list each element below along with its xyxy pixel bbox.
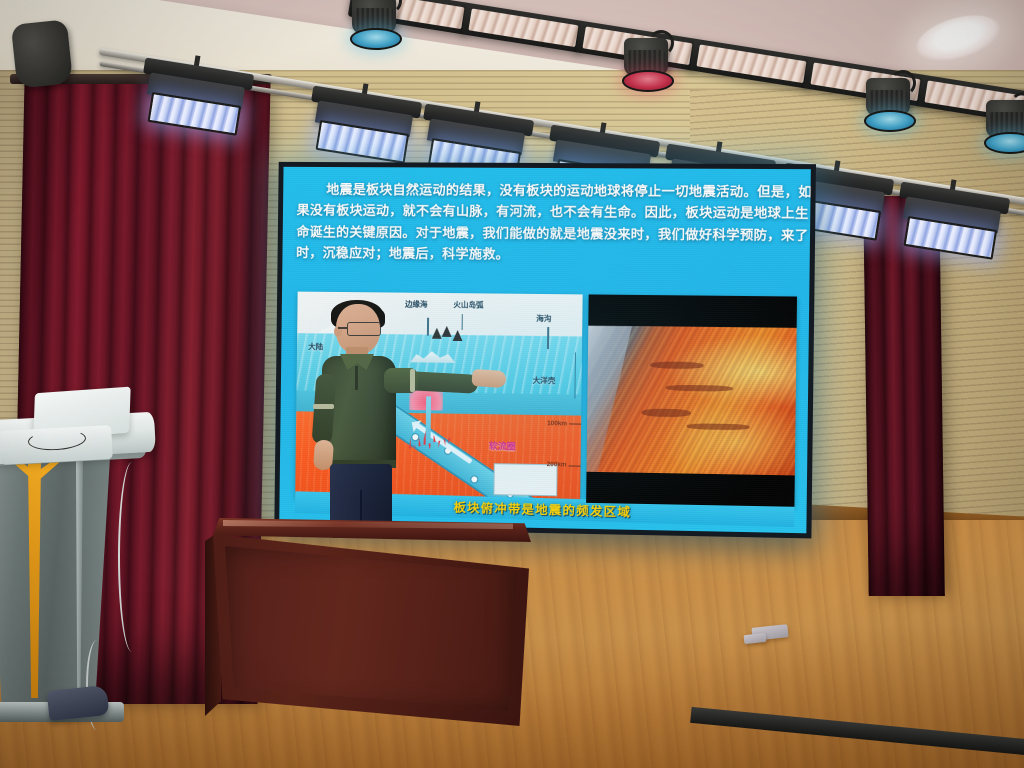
slide-line: 时，沉稳应对；地震后，科学施救。 — [296, 242, 800, 268]
stage-curtain-right — [863, 196, 945, 596]
par-can-light-blue — [346, 0, 402, 48]
curtain-rod-bracket — [11, 19, 73, 89]
eyeglasses-icon — [347, 322, 381, 336]
par-can-light-blue-2 — [860, 78, 916, 130]
presenter-person — [300, 300, 500, 535]
speaker-lectern[interactable] — [0, 390, 170, 730]
slide-body-text: 地震是板块自然运动的结果，没有板块的运动地球将停止一切地震活动。但是，如 果没有… — [296, 179, 800, 268]
sleeve-trim-right — [410, 369, 415, 392]
par-can-light-red — [618, 38, 674, 90]
depth-tick-200: 200km — [547, 462, 567, 469]
label-trench: 海沟 — [536, 313, 551, 324]
label-oceanic-crust: 大洋壳 — [533, 375, 556, 386]
slide-line: 地震是板块自然运动的结果，没有板块的运动地球将停止一切地震活动。但是，如 — [297, 179, 801, 203]
presenter-pointing-hand — [471, 369, 506, 388]
depth-tick-100: 100km — [547, 420, 567, 427]
floor-pedal[interactable] — [47, 685, 110, 721]
magma-flow-photo — [586, 294, 797, 506]
desk-modesty-panel — [225, 546, 517, 714]
shirt-placket — [355, 366, 358, 390]
wooden-desk[interactable] — [205, 518, 535, 733]
hanging-cable — [118, 462, 146, 652]
par-can-light-blue-3 — [980, 100, 1024, 152]
lecture-hall-scene: 地震是板块自然运动的结果，没有板块的运动地球将停止一切地震活动。但是，如 果没有… — [0, 0, 1024, 768]
sleeve-trim-left — [313, 404, 334, 409]
